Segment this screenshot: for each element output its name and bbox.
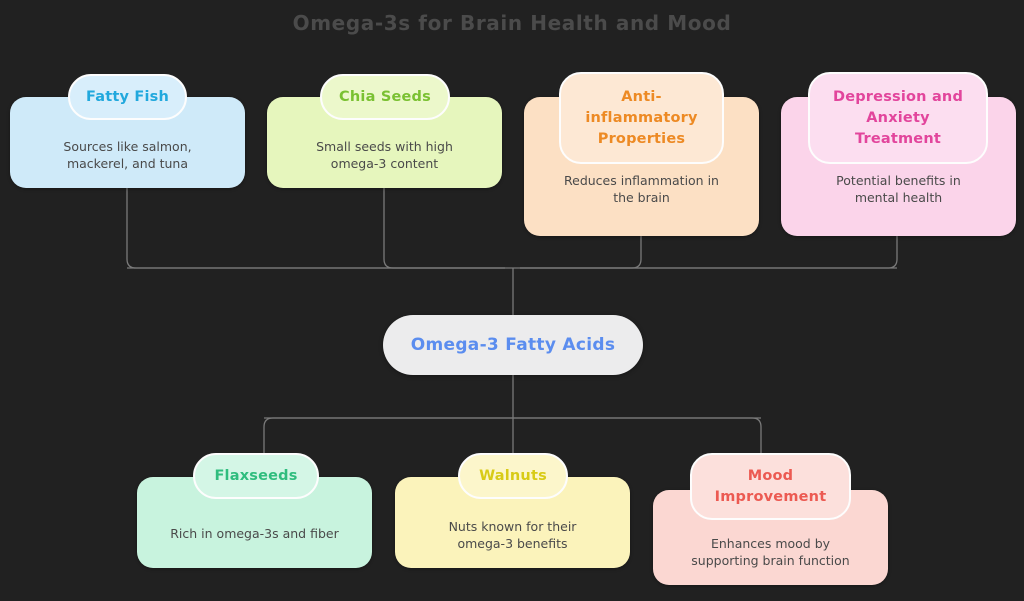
node-anti-inflammatory-description: Reduces inflammation in the brain — [524, 172, 759, 206]
node-depression-anxiety-description: Potential benefits in mental health — [781, 172, 1016, 206]
connector-bottom-mood — [513, 418, 761, 453]
connector-top-depression — [520, 236, 897, 268]
node-fatty-fish-title[interactable]: Fatty Fish — [68, 74, 187, 120]
node-omega3-fatty-acids-label: Omega-3 Fatty Acids — [411, 335, 616, 355]
connector-bottom-flaxseeds — [264, 418, 513, 453]
node-chia-seeds-description: Small seeds with high omega-3 content — [267, 138, 502, 172]
node-walnuts-title[interactable]: Walnuts — [458, 453, 568, 499]
diagram-canvas: Omega-3s for Brain Health and Mood Sourc… — [0, 0, 1024, 601]
connector-top-fatty-fish — [127, 188, 505, 268]
connector-top-chia-seeds — [384, 188, 505, 268]
node-flaxseeds-description: Rich in omega-3s and fiber — [137, 525, 372, 542]
node-mood-improvement-title[interactable]: Mood Improvement — [690, 453, 851, 520]
node-depression-anxiety-title[interactable]: Depression and Anxiety Treatment — [808, 72, 988, 164]
node-walnuts-description: Nuts known for their omega-3 benefits — [395, 518, 630, 552]
node-mood-improvement-description: Enhances mood by supporting brain functi… — [653, 535, 888, 569]
node-flaxseeds-title[interactable]: Flaxseeds — [193, 453, 319, 499]
page-title: Omega-3s for Brain Health and Mood — [0, 11, 1024, 35]
node-chia-seeds-title[interactable]: Chia Seeds — [320, 74, 450, 120]
node-omega3-fatty-acids[interactable]: Omega-3 Fatty Acids — [383, 315, 643, 375]
connector-top-anti-inflammatory — [520, 236, 641, 268]
node-anti-inflammatory-title[interactable]: Anti- inflammatory Properties — [559, 72, 724, 164]
node-fatty-fish-description: Sources like salmon, mackerel, and tuna — [10, 138, 245, 172]
